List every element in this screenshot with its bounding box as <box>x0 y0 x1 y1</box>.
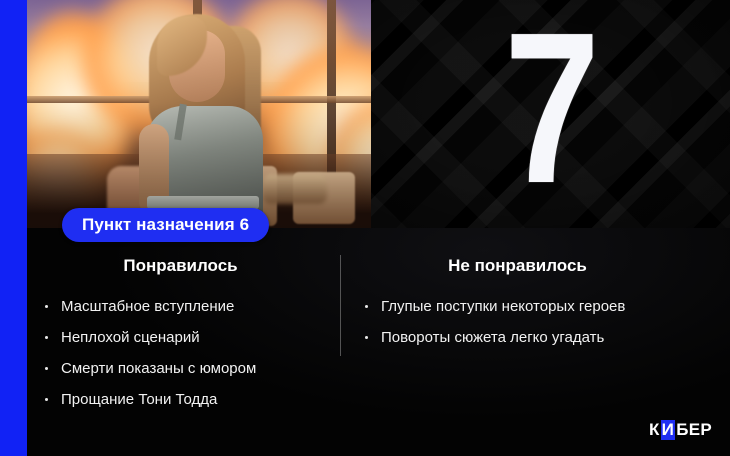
liked-list: Масштабное вступление Неплохой сценарий … <box>27 299 340 407</box>
list-item-label: Масштабное вступление <box>61 298 234 315</box>
disliked-column: Не понравилось Глупые поступки некоторых… <box>341 228 730 361</box>
bullet-dot <box>45 367 48 370</box>
rank-number: 7 <box>407 0 694 228</box>
list-item: Масштабное вступление <box>39 299 340 314</box>
brand-logo-prefix: К <box>649 420 660 440</box>
pros-cons-section: Понравилось Масштабное вступление Неплох… <box>27 228 730 456</box>
bullet-dot <box>365 336 368 339</box>
list-item: Прощание Тони Тодда <box>39 392 340 407</box>
bullet-dot <box>365 305 368 308</box>
still-color-grade <box>27 0 371 228</box>
bullet-dot <box>45 398 48 401</box>
list-item-label: Повороты сюжета легко угадать <box>381 329 604 346</box>
list-item: Смерти показаны с юмором <box>39 361 340 376</box>
slide-root: 7 Пункт назначения 6 Понравилось Масштаб… <box>0 0 730 456</box>
list-item: Повороты сюжета легко угадать <box>359 330 730 345</box>
bullet-dot <box>45 336 48 339</box>
list-item-label: Глупые поступки некоторых героев <box>381 298 625 315</box>
brand-logo-suffix: БЕР <box>676 420 712 440</box>
accent-rail <box>0 0 27 456</box>
movie-still-image <box>27 0 371 228</box>
rank-panel: 7 <box>371 0 730 228</box>
list-item-label: Прощание Тони Тодда <box>61 391 217 408</box>
disliked-list: Глупые поступки некоторых героев Поворот… <box>341 299 730 345</box>
brand-logo: К И БЕР <box>649 420 712 440</box>
list-item-label: Неплохой сценарий <box>61 329 200 346</box>
disliked-heading: Не понравилось <box>341 256 730 276</box>
list-item: Неплохой сценарий <box>39 330 340 345</box>
bullet-dot <box>45 305 48 308</box>
list-item: Глупые поступки некоторых героев <box>359 299 730 314</box>
brand-logo-mark: И <box>661 420 676 440</box>
movie-title-badge: Пункт назначения 6 <box>62 208 269 242</box>
liked-heading: Понравилось <box>27 256 340 276</box>
liked-column: Понравилось Масштабное вступление Неплох… <box>27 228 340 423</box>
list-item-label: Смерти показаны с юмором <box>61 360 256 377</box>
